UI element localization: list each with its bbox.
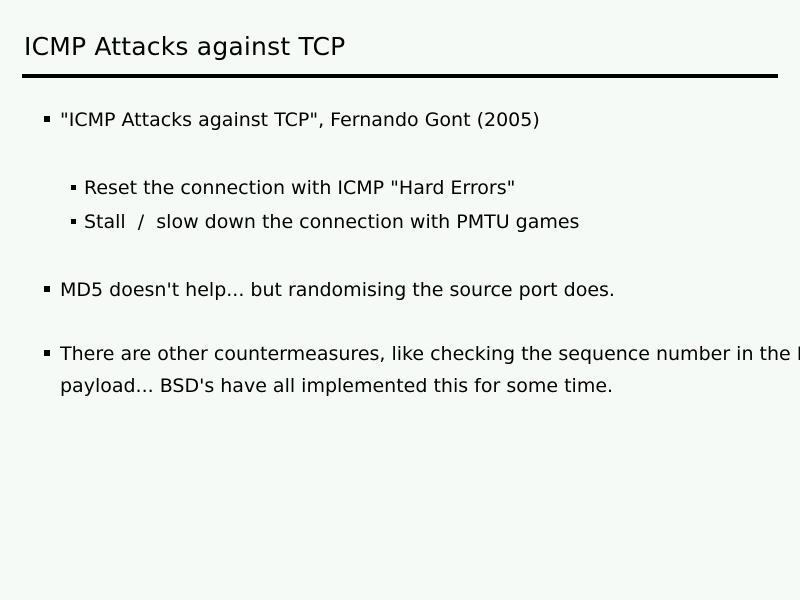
slide-body: "ICMP Attacks against TCP", Fernando Gon…: [0, 104, 800, 402]
square-bullet-icon: [71, 219, 76, 224]
spacer: [0, 136, 800, 172]
bullet-text: "ICMP Attacks against TCP", Fernando Gon…: [60, 104, 800, 136]
bullet-text: Reset the connection with ICMP "Hard Err…: [84, 172, 800, 204]
page-title: ICMP Attacks against TCP: [24, 30, 345, 64]
list-item: There are other countermeasures, like ch…: [0, 338, 800, 402]
square-bullet-icon: [71, 185, 76, 190]
bullet-text: Stall / slow down the connection with PM…: [84, 206, 800, 238]
list-item: Reset the connection with ICMP "Hard Err…: [0, 172, 800, 204]
list-item: MD5 doesn't help... but randomising the …: [0, 274, 800, 306]
spacer: [0, 238, 800, 274]
list-item: "ICMP Attacks against TCP", Fernando Gon…: [0, 104, 800, 136]
title-divider: [22, 74, 778, 78]
square-bullet-icon: [44, 286, 50, 292]
bullet-text: There are other countermeasures, like ch…: [60, 338, 800, 402]
square-bullet-icon: [44, 116, 50, 122]
list-item: Stall / slow down the connection with PM…: [0, 206, 800, 238]
spacer: [0, 306, 800, 338]
slide: ICMP Attacks against TCP "ICMP Attacks a…: [0, 0, 800, 600]
square-bullet-icon: [44, 350, 50, 356]
bullet-text: MD5 doesn't help... but randomising the …: [60, 274, 800, 306]
